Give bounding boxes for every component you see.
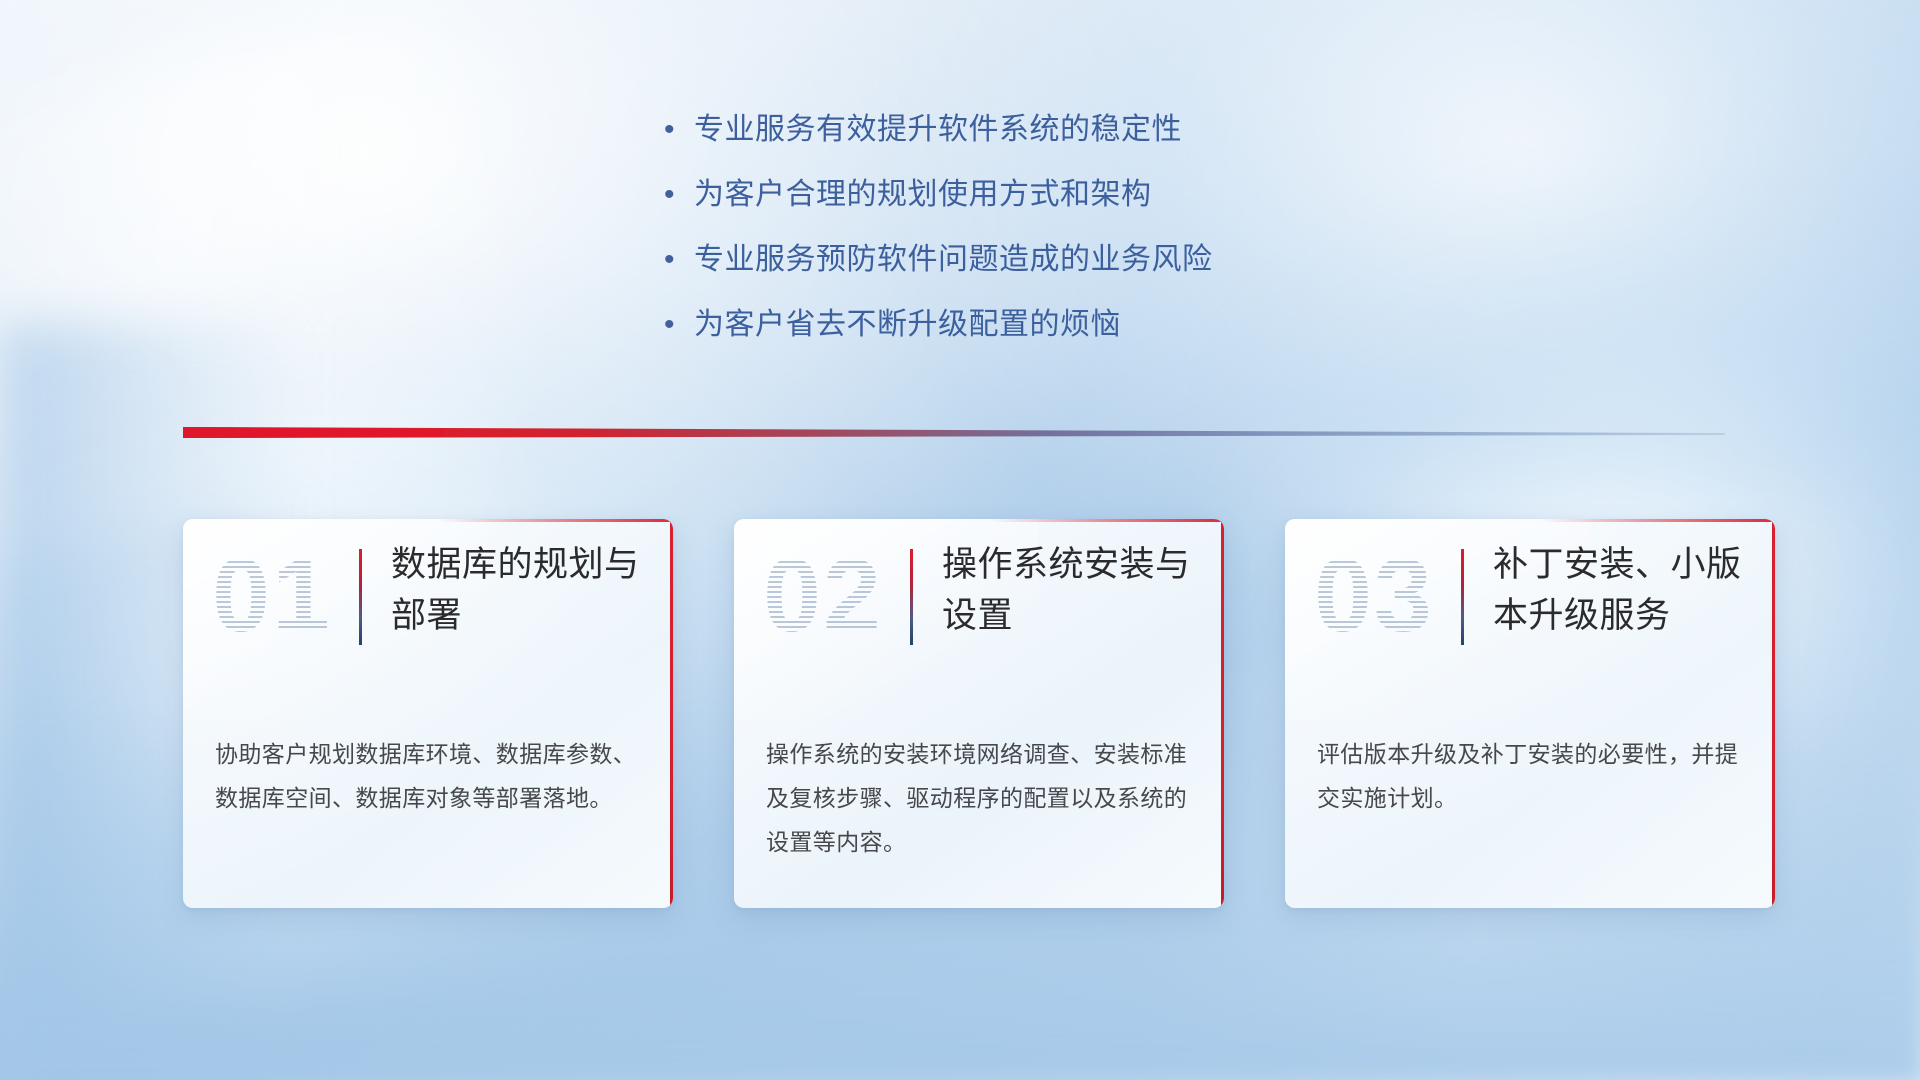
benefits-bullet-list: • 专业服务有效提升软件系统的稳定性 • 为客户合理的规划使用方式和架构 • 专… <box>660 108 1520 368</box>
bullet-dot-icon: • <box>660 108 694 152</box>
card-number-watermark: 03 <box>1299 541 1449 651</box>
bullet-item-text: 为客户省去不断升级配置的烦恼 <box>694 303 1121 347</box>
card-number-text: 01 <box>212 541 332 651</box>
card-header: 03 补丁安装、小版本升级服务 <box>1285 519 1775 715</box>
card-body-text: 协助客户规划数据库环境、数据库参数、数据库空间、数据库对象等部署落地。 <box>215 732 647 820</box>
service-card-01[interactable]: 01 数据库的规划与部署 协助客户规划数据库环境、数据库参数、数据库空间、数据库… <box>183 519 673 908</box>
bullet-item-text: 专业服务有效提升软件系统的稳定性 <box>694 108 1182 152</box>
card-title: 补丁安装、小版本升级服务 <box>1493 539 1753 641</box>
bullet-dot-icon: • <box>660 238 694 282</box>
bullet-item-text: 专业服务预防软件问题造成的业务风险 <box>694 238 1213 282</box>
service-cards: 01 数据库的规划与部署 协助客户规划数据库环境、数据库参数、数据库空间、数据库… <box>183 519 1736 919</box>
bullet-dot-icon: • <box>660 303 694 347</box>
bullet-dot-icon: • <box>660 173 694 217</box>
card-number-text: 02 <box>763 541 883 651</box>
list-item: • 为客户省去不断升级配置的烦恼 <box>660 303 1520 368</box>
list-item: • 为客户合理的规划使用方式和架构 <box>660 173 1520 238</box>
service-card-03[interactable]: 03 补丁安装、小版本升级服务 评估版本升级及补丁安装的必要性，并提交实施计划。 <box>1285 519 1775 908</box>
card-divider-rule <box>359 549 362 645</box>
bullet-item-text: 为客户合理的规划使用方式和架构 <box>694 173 1152 217</box>
section-divider <box>183 424 1725 446</box>
card-divider-rule <box>1461 549 1464 645</box>
card-divider-rule <box>910 549 913 645</box>
card-body-text: 操作系统的安装环境网络调查、安装标准及复核步骤、驱动程序的配置以及系统的设置等内… <box>766 732 1198 864</box>
card-header: 02 操作系统安装与设置 <box>734 519 1224 715</box>
divider-wedge-shape <box>183 424 1725 446</box>
card-number-watermark: 01 <box>197 541 347 651</box>
card-title: 数据库的规划与部署 <box>391 539 651 641</box>
card-number-text: 03 <box>1314 541 1434 651</box>
list-item: • 专业服务有效提升软件系统的稳定性 <box>660 108 1520 173</box>
card-header: 01 数据库的规划与部署 <box>183 519 673 715</box>
card-body-text: 评估版本升级及补丁安装的必要性，并提交实施计划。 <box>1317 732 1749 820</box>
card-title: 操作系统安装与设置 <box>942 539 1202 641</box>
service-card-02[interactable]: 02 操作系统安装与设置 操作系统的安装环境网络调查、安装标准及复核步骤、驱动程… <box>734 519 1224 908</box>
card-number-watermark: 02 <box>748 541 898 651</box>
list-item: • 专业服务预防软件问题造成的业务风险 <box>660 238 1520 303</box>
slide-content: • 专业服务有效提升软件系统的稳定性 • 为客户合理的规划使用方式和架构 • 专… <box>0 0 1920 1080</box>
